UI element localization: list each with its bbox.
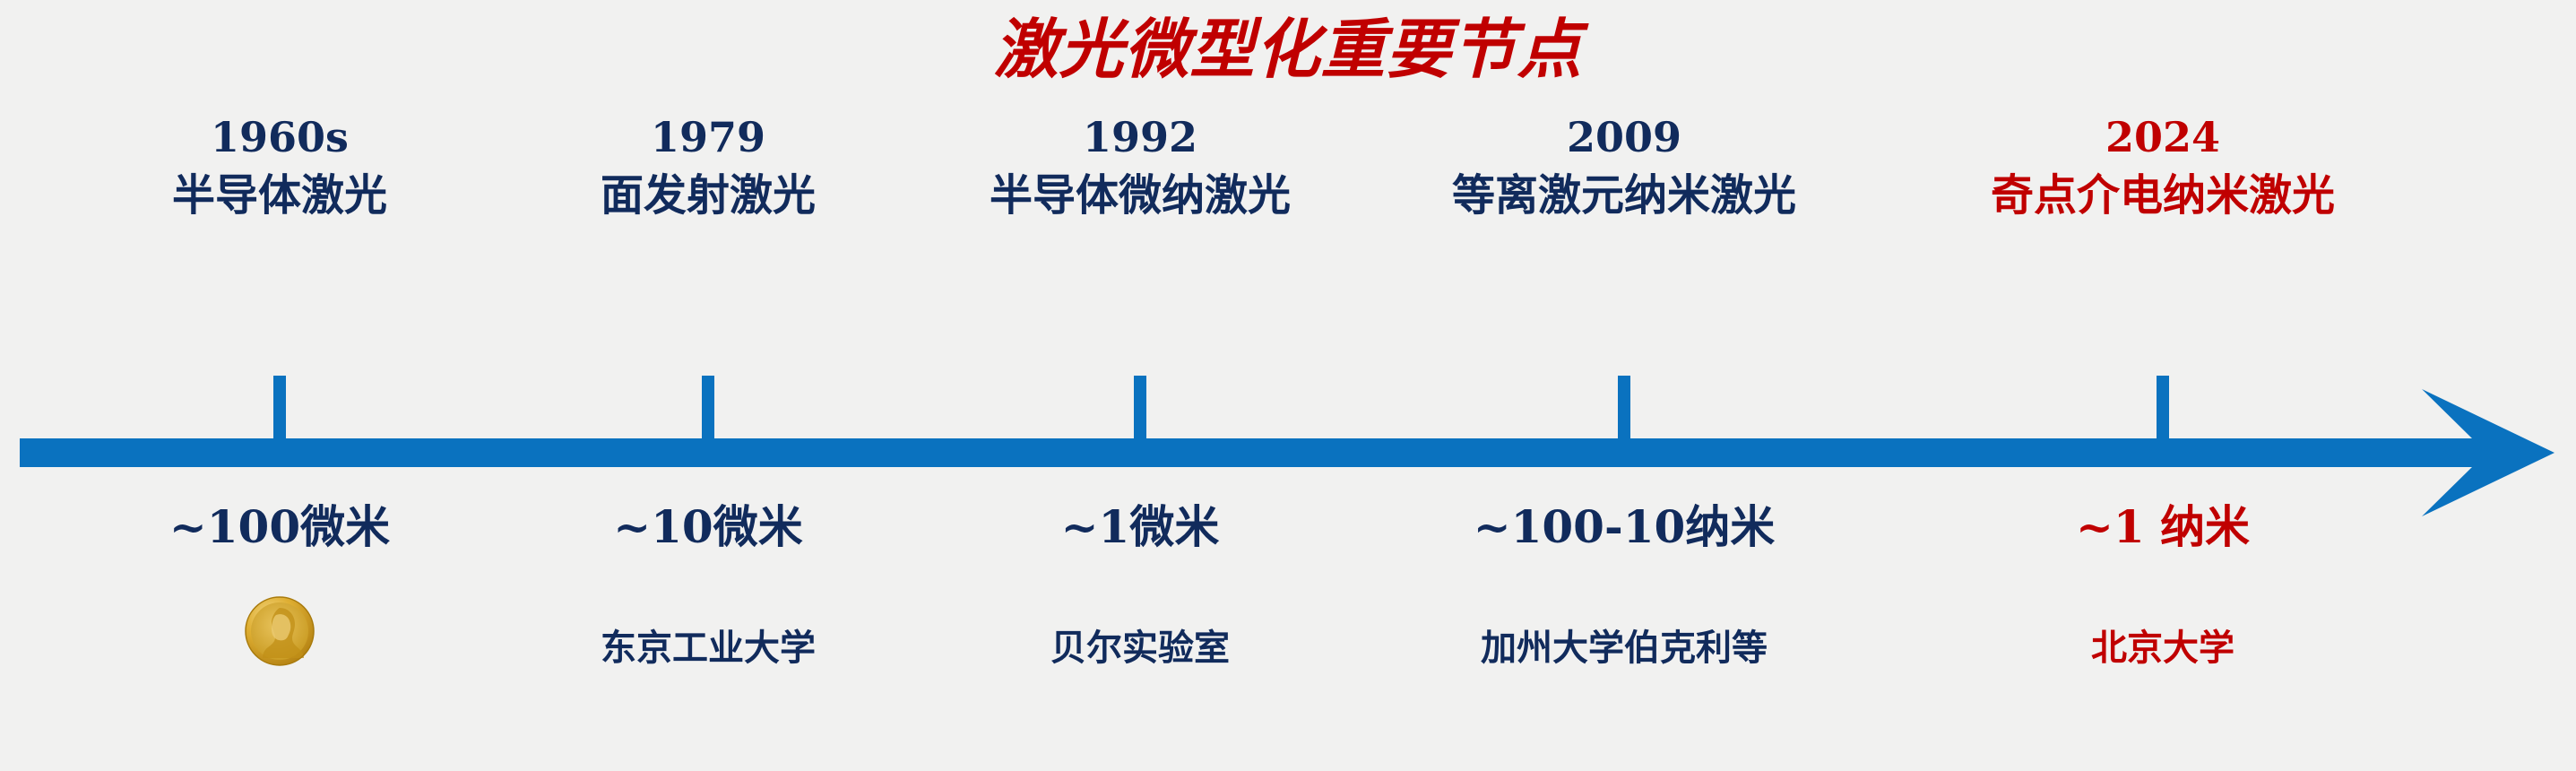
milestone-year: 1992 [862,113,1418,161]
milestone-year: 2009 [1346,113,1902,161]
timeline-diagram: 激光微型化重要节点 1960s半导体激光~100微米1979面发射激光~10微米… [0,0,2576,771]
milestone-size: ~100-10纳米 [1346,491,1902,556]
timeline-node: 2009等离激元纳米激光~100-10纳米加州大学伯克利等 [1346,0,1902,771]
timeline-tick [1618,376,1630,446]
milestone-institution: 加州大学伯克利等 [1346,619,1902,671]
timeline-node: 2024奇点介电纳米激光~1 纳米北京大学 [1885,0,2441,771]
milestone-technology: 半导体微纳激光 [862,160,1418,222]
timeline-tick [702,376,714,446]
timeline-tick [2157,376,2169,446]
milestone-size: ~1微米 [862,491,1418,556]
timeline-tick [1134,376,1146,446]
nobel-medal-icon [244,595,316,667]
milestone-technology: 奇点介电纳米激光 [1885,160,2441,222]
milestone-institution: 贝尔实验室 [862,619,1418,671]
milestone-technology: 等离激元纳米激光 [1346,160,1902,222]
milestone-institution: 北京大学 [1885,619,2441,671]
milestone-size: ~1 纳米 [1885,491,2441,556]
milestone-year: 2024 [1885,113,2441,161]
timeline-tick [273,376,286,446]
timeline-node: 1992半导体微纳激光~1微米贝尔实验室 [862,0,1418,771]
